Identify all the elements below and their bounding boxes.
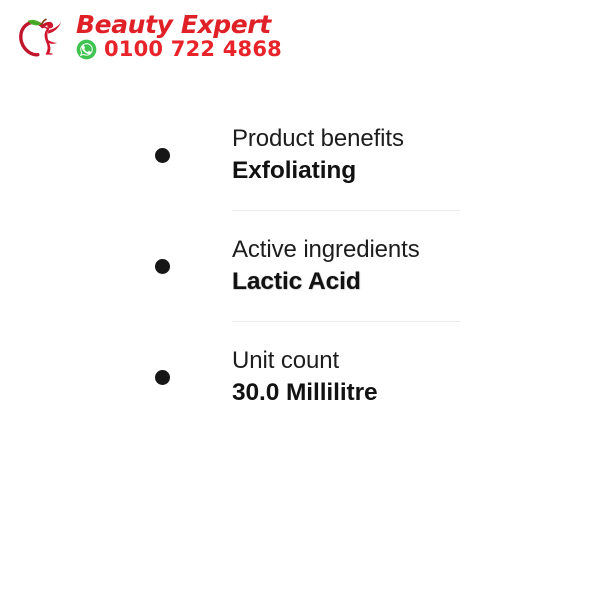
spec-item-active-ingredients: Active ingredients Lactic Acid: [0, 211, 600, 321]
spec-value: Exfoliating: [232, 155, 404, 187]
product-spec-list: Product benefits Exfoliating Active ingr…: [0, 100, 600, 432]
brand-contact: 0100 722 4868: [76, 39, 282, 60]
spec-body: Unit count 30.0 Millilitre: [232, 345, 378, 409]
spec-item-product-benefits: Product benefits Exfoliating: [0, 100, 600, 210]
spec-body: Active ingredients Lactic Acid: [232, 234, 420, 298]
spec-label: Unit count: [232, 345, 378, 377]
spec-bullet-cell: [0, 259, 232, 274]
spec-value: 30.0 Millilitre: [232, 377, 378, 409]
spec-bullet-cell: [0, 148, 232, 163]
spec-label: Product benefits: [232, 123, 404, 155]
bullet-dot-icon: [155, 148, 170, 163]
bullet-dot-icon: [155, 370, 170, 385]
bullet-dot-icon: [155, 259, 170, 274]
spec-label: Active ingredients: [232, 234, 420, 266]
brand-header: Beauty Expert 0100 722 4868: [12, 8, 282, 66]
spec-body: Product benefits Exfoliating: [232, 123, 404, 187]
apple-dancer-logo-icon: [12, 8, 70, 66]
brand-phone-number: 0100 722 4868: [104, 39, 282, 60]
brand-name: Beauty Expert: [76, 12, 282, 38]
spec-value: Lactic Acid: [232, 266, 420, 298]
spec-bullet-cell: [0, 370, 232, 385]
spec-item-unit-count: Unit count 30.0 Millilitre: [0, 322, 600, 432]
brand-text-block: Beauty Expert 0100 722 4868: [76, 12, 282, 62]
whatsapp-icon: [76, 39, 97, 60]
